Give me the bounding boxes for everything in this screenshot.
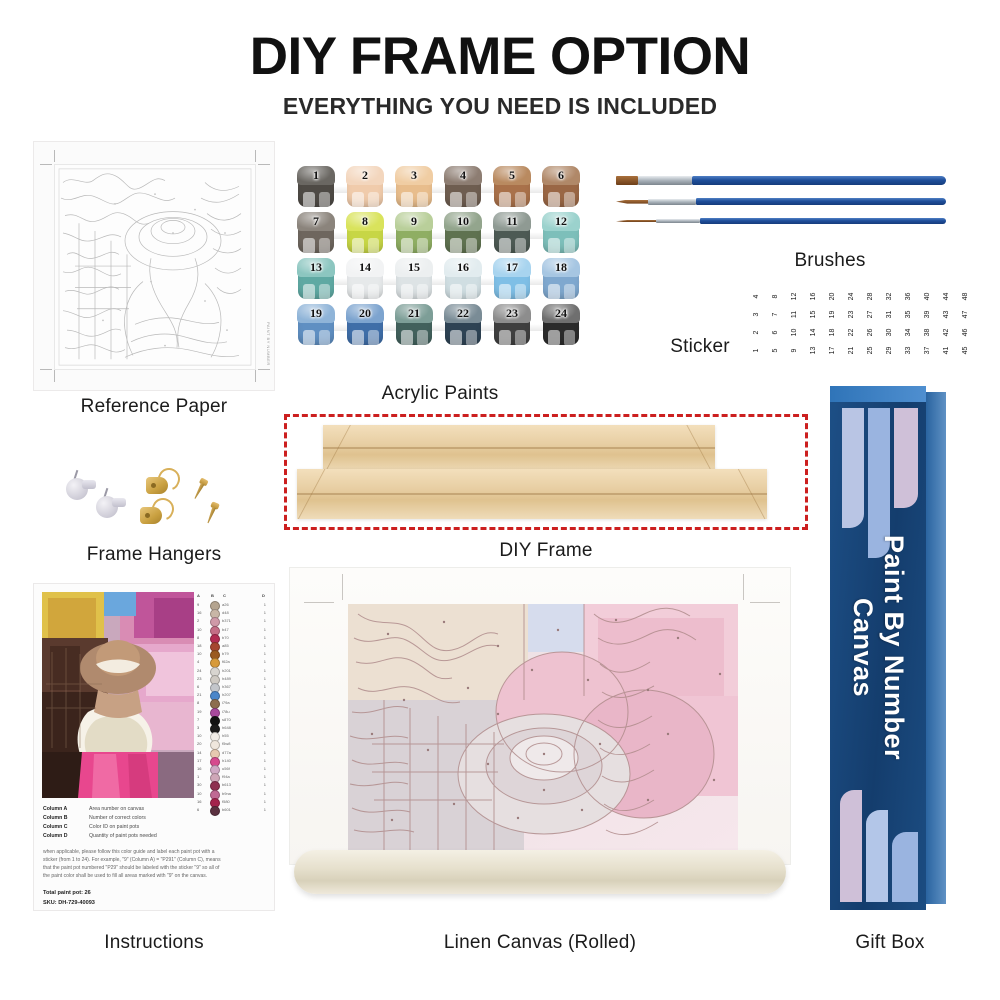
paint-pot-number: 7	[296, 214, 336, 229]
plug-stem	[112, 498, 126, 507]
paint-pot-highlight	[466, 284, 477, 299]
caption-frame-hangers: Frame Hangers	[34, 544, 274, 566]
sticker-number: 42	[938, 324, 955, 341]
legend-color-code: b613	[222, 782, 231, 787]
legend-row: 16d481	[196, 609, 268, 617]
legend-row: 19i78u1	[196, 708, 268, 716]
brush-ferrule	[648, 199, 696, 205]
paint-pot-highlight	[417, 238, 428, 253]
paint-pot-21: 21	[394, 304, 434, 346]
paint-pot-20: 20	[345, 304, 385, 346]
paint-pot-highlight	[515, 330, 526, 345]
paint-pot-highlight	[401, 192, 413, 207]
screw	[204, 501, 220, 524]
wood-stretcher-bar	[297, 469, 767, 519]
legend-quantity: 1	[264, 635, 266, 640]
paint-pot-number: 18	[541, 260, 581, 275]
sticker-number: 12	[786, 288, 803, 305]
paint-pot-1: 1	[296, 166, 336, 208]
d-ring-hole	[145, 513, 150, 518]
legend-quantity: 1	[264, 709, 266, 714]
legend-color-code: b47	[222, 627, 229, 632]
paint-pot-10: 10	[443, 212, 483, 254]
legend-area-number: 7	[197, 717, 199, 722]
paint-pot-number: 19	[296, 306, 336, 321]
legend-color-code: b601	[222, 807, 231, 812]
sticker-number: 45	[957, 342, 974, 359]
sticker-number: 11	[786, 306, 803, 323]
paint-pot-row: 789101112	[296, 212, 588, 254]
canvas-lineart	[348, 604, 738, 852]
sticker-number: 41	[938, 342, 955, 359]
painting-preview-svg	[42, 592, 194, 798]
gift-box-side	[926, 392, 946, 904]
legend-area-number: 14	[197, 750, 201, 755]
paint-pot-highlight	[450, 330, 462, 345]
paint-pot-highlight	[515, 238, 526, 253]
instructions-column-label: Column C	[43, 824, 68, 830]
instructions-column-desc: Area number on canvas	[89, 806, 144, 812]
paint-pot-17: 17	[492, 258, 532, 300]
crop-mark	[255, 370, 256, 382]
instructions-column-desc: Color ID on paint pots	[89, 824, 139, 830]
paint-pot-highlight	[450, 238, 462, 253]
brushes-group	[616, 172, 946, 250]
paint-pot-2: 2	[345, 166, 385, 208]
legend-color-code: a85	[222, 643, 229, 648]
paint-pot-highlight	[499, 238, 511, 253]
round-brush	[616, 198, 946, 205]
paint-pot-number: 20	[345, 306, 385, 321]
sticker-number: 23	[843, 306, 860, 323]
paint-pot-6: 6	[541, 166, 581, 208]
page-title: DIY FRAME OPTION	[0, 26, 1000, 87]
legend-row: 24h2011	[196, 667, 268, 675]
paint-pot-highlight	[548, 284, 560, 299]
instructions-column-desc: Number of correct colors	[89, 815, 146, 821]
caption-reference-paper: Reference Paper	[34, 396, 274, 418]
wall-plug	[66, 474, 96, 502]
legend-area-number: 6	[197, 684, 199, 689]
legend-quantity: 1	[264, 733, 266, 738]
sticker-number: 34	[900, 324, 917, 341]
canvas-crop-mark	[342, 574, 343, 600]
wood-groove	[297, 493, 767, 495]
sticker-number: 8	[767, 288, 784, 305]
paint-pot-highlight	[515, 192, 526, 207]
reference-paper-lineart	[54, 164, 256, 370]
canvas-crop-mark	[743, 574, 744, 600]
legend-row: 21h2071	[196, 691, 268, 699]
paint-pot-highlight	[303, 192, 315, 207]
paint-pot-number: 1	[296, 168, 336, 183]
acrylic-paints-group: 123456789101112131415161718192021222324	[296, 166, 588, 352]
legend-quantity: 1	[264, 627, 266, 632]
legend-quantity: 1	[264, 610, 266, 615]
brush-handle	[700, 218, 946, 224]
brush-tip	[616, 200, 648, 204]
wood-groove	[323, 447, 715, 449]
sticker-number: 20	[824, 288, 841, 305]
legend-quantity: 1	[264, 791, 266, 796]
legend-quantity: 1	[264, 651, 266, 656]
legend-color-code: h140	[222, 758, 231, 763]
d-ring-hole	[151, 483, 156, 488]
paint-pot-highlight	[368, 192, 379, 207]
paint-pot-highlight	[417, 284, 428, 299]
legend-row: 16f5801	[196, 798, 268, 806]
legend-color-code: h489	[222, 676, 231, 681]
paint-pot-number: 16	[443, 260, 483, 275]
paint-pot-24: 24	[541, 304, 581, 346]
canvas-sheet	[290, 568, 790, 864]
paint-pot-highlight	[303, 238, 315, 253]
legend-area-number: 17	[197, 758, 201, 763]
legend-quantity: 1	[264, 807, 266, 812]
legend-quantity: 1	[264, 643, 266, 648]
canvas-crop-mark	[304, 602, 334, 603]
screw-shaft	[193, 483, 205, 500]
paint-pot-highlight	[368, 330, 379, 345]
legend-quantity: 1	[264, 725, 266, 730]
legend-color-code: h367	[222, 684, 231, 689]
crop-mark	[54, 370, 55, 382]
legend-quantity: 1	[264, 684, 266, 689]
legend-color-code: b79	[222, 651, 229, 656]
legend-row: 7s8701	[196, 716, 268, 724]
instructions-painting-preview	[42, 592, 194, 798]
canvas-crop-mark	[750, 602, 780, 603]
sticker-number: 38	[919, 324, 936, 341]
wood-miter-left	[297, 469, 327, 519]
legend-row: 10b9na1	[196, 790, 268, 798]
instructions-column-desc: Quantity of paint pots needed	[89, 833, 157, 839]
brush-tip	[616, 220, 656, 222]
instructions-column-row: Column CColor ID on paint pots	[43, 824, 219, 833]
legend-row: 14d77a1	[196, 749, 268, 757]
legend-header-b: B	[211, 593, 214, 598]
instructions-column-row: Column BNumber of correct colors	[43, 815, 219, 824]
crop-mark	[255, 150, 256, 162]
paint-pot-highlight	[352, 330, 364, 345]
paint-pot-number: 6	[541, 168, 581, 183]
paint-pot-highlight	[548, 238, 560, 253]
paint-pot-number: 3	[394, 168, 434, 183]
sticker-number: 22	[843, 324, 860, 341]
legend-row: 10b791	[196, 650, 268, 658]
legend-quantity: 1	[264, 676, 266, 681]
legend-color-code: h55	[222, 733, 229, 738]
legend-color-code: h648	[222, 725, 231, 730]
paint-pot-row: 131415161718	[296, 258, 588, 300]
paint-pot-23: 23	[492, 304, 532, 346]
paint-pot-highlight	[368, 238, 379, 253]
legend-row: 8b701	[196, 634, 268, 642]
legend-row: 20f5w81	[196, 740, 268, 748]
sticker-number: 32	[881, 288, 898, 305]
legend-quantity: 1	[264, 774, 266, 779]
paint-pot-18: 18	[541, 258, 581, 300]
sticker-number: 19	[824, 306, 841, 323]
sticker-column: 9101112	[786, 288, 803, 362]
gift-box-label: Canvas Paint By Number	[830, 386, 926, 910]
wall-plug	[96, 492, 126, 520]
sticker-column: 21222324	[843, 288, 860, 362]
paint-pot-highlight	[401, 284, 413, 299]
sticker-number: 48	[957, 288, 974, 305]
legend-area-number: 16	[197, 610, 201, 615]
legend-color-code: d77a	[222, 750, 231, 755]
legend-header-a: A	[197, 593, 200, 598]
instructions-total-paint-pot: Total paint pot: 26	[43, 890, 91, 896]
paint-pot-number: 11	[492, 214, 532, 229]
paint-pot-5: 5	[492, 166, 532, 208]
paint-pot-7: 7	[296, 212, 336, 254]
brush-tip	[616, 176, 638, 185]
sticker-number: 17	[824, 342, 841, 359]
paint-pot-number: 17	[492, 260, 532, 275]
paint-pot-row: 123456	[296, 166, 588, 208]
legend-row: 8i79a1	[196, 699, 268, 707]
crop-mark	[54, 150, 55, 162]
paint-pot-number: 22	[443, 306, 483, 321]
paint-pot-number: 8	[345, 214, 385, 229]
plug-stem	[82, 480, 96, 489]
caption-acrylic-paints: Acrylic Paints	[290, 383, 590, 405]
paint-pot-highlight	[303, 284, 315, 299]
sticker-column: 13141516	[805, 288, 822, 362]
paint-pot-highlight	[548, 192, 560, 207]
instructions-paragraph: when applicable, please follow this colo…	[43, 848, 221, 880]
paint-pot-9: 9	[394, 212, 434, 254]
brush-handle	[692, 176, 946, 185]
legend-color-code: i78u	[222, 709, 230, 714]
legend-row: 1f94a1	[196, 773, 268, 781]
sticker-number: 28	[862, 288, 879, 305]
paint-pot-number: 2	[345, 168, 385, 183]
paint-pot-highlight	[499, 284, 511, 299]
sticker-number: 30	[881, 324, 898, 341]
canvas-roll	[294, 850, 786, 894]
sticker-column: 37383940	[919, 288, 936, 362]
paint-pot-highlight	[417, 192, 428, 207]
sticker-number: 46	[957, 324, 974, 341]
sticker-number: 14	[805, 324, 822, 341]
legend-row: 2b3711	[196, 617, 268, 625]
sticker-column: 45464748	[957, 288, 974, 362]
reference-paper-item: PAINT BY NUMBER	[34, 142, 274, 390]
wood-face	[323, 425, 715, 473]
legend-quantity: 1	[264, 700, 266, 705]
legend-area-number: 23	[197, 676, 201, 681]
paint-pot-highlight	[466, 330, 477, 345]
paint-pot-number: 13	[296, 260, 336, 275]
d-ring-hanger	[140, 498, 170, 528]
brush-ferrule	[656, 219, 700, 224]
legend-area-number: 19	[197, 709, 201, 714]
legend-color-code: a26	[222, 602, 229, 607]
sticker-number: 36	[900, 288, 917, 305]
reference-paper-watermark: PAINT BY NUMBER	[266, 322, 271, 366]
caption-gift-box: Gift Box	[800, 932, 980, 954]
paint-pot-highlight	[450, 192, 462, 207]
sticker-number: 24	[843, 288, 860, 305]
legend-color-code: f94a	[222, 774, 230, 779]
paint-pot-highlight	[564, 284, 575, 299]
legend-row: 17h1401	[196, 757, 268, 765]
wood-miter-left	[323, 425, 353, 473]
legend-quantity: 1	[264, 602, 266, 607]
sticker-number: 18	[824, 324, 841, 341]
sticker-number: 27	[862, 306, 879, 323]
instructions-sheet: ABCD9a26116d4812b371110b4718b70118a85110…	[34, 584, 274, 910]
legend-area-number: 16	[197, 799, 201, 804]
page-subtitle: EVERYTHING YOU NEED IS INCLUDED	[0, 93, 1000, 120]
legend-header-row: ABCD	[196, 592, 268, 600]
paint-pot-number: 15	[394, 260, 434, 275]
crop-mark	[40, 369, 52, 370]
diy-frame-option-infographic: DIY FRAME OPTION EVERYTHING YOU NEED IS …	[0, 0, 1000, 1000]
legend-area-number: 4	[197, 659, 199, 664]
paint-pot-highlight	[319, 192, 330, 207]
paint-pot-13: 13	[296, 258, 336, 300]
sticker-number: 26	[862, 324, 879, 341]
sticker-number: 25	[862, 342, 879, 359]
flat-brush	[616, 176, 946, 185]
sticker-column: 33343536	[900, 288, 917, 362]
legend-color-code: b9na	[222, 791, 231, 796]
legend-area-number: 24	[197, 668, 201, 673]
caption-instructions: Instructions	[34, 932, 274, 954]
sticker-number: 39	[919, 306, 936, 323]
sticker-number: 9	[786, 342, 803, 359]
paint-pot-highlight	[564, 330, 575, 345]
crop-mark	[258, 369, 270, 370]
legend-color-code: h201	[222, 668, 231, 673]
sticker-number: 10	[786, 324, 803, 341]
sticker-number: 29	[881, 342, 898, 359]
legend-color-code: f580	[222, 799, 230, 804]
paint-pot-3: 3	[394, 166, 434, 208]
legend-area-number: 10	[197, 627, 201, 632]
legend-quantity: 1	[264, 618, 266, 623]
sticker-number: 31	[881, 306, 898, 323]
legend-quantity: 1	[264, 659, 266, 664]
paint-pot-highlight	[319, 284, 330, 299]
paint-pot-11: 11	[492, 212, 532, 254]
linen-canvas-item	[290, 568, 790, 908]
sticker-column: 17181920	[824, 288, 841, 362]
d-ring-hanger	[146, 468, 176, 498]
sticker-number: 13	[805, 342, 822, 359]
legend-area-number: 30	[197, 782, 201, 787]
d-ring-plate	[140, 507, 162, 524]
paint-pot-number: 10	[443, 214, 483, 229]
sticker-number: 15	[805, 306, 822, 323]
legend-area-number: 10	[197, 791, 201, 796]
sticker-column: 25262728	[862, 288, 879, 362]
legend-area-number: 8	[197, 635, 199, 640]
legend-quantity: 1	[264, 782, 266, 787]
paint-pot-highlight	[401, 330, 413, 345]
legend-area-number: 3	[197, 725, 199, 730]
instructions-sku: SKU: DH-729-40093	[43, 900, 95, 906]
legend-row: 30b6131	[196, 781, 268, 789]
legend-row: 3h6481	[196, 724, 268, 732]
paint-pot-number: 24	[541, 306, 581, 321]
instructions-column-label: Column A	[43, 806, 67, 812]
legend-area-number: 18	[197, 643, 201, 648]
caption-linen-canvas: Linen Canvas (Rolled)	[290, 932, 790, 954]
legend-color-code: f62a	[222, 659, 230, 664]
paint-pot-highlight	[417, 330, 428, 345]
gift-box-item: Canvas Paint By Number	[830, 386, 946, 910]
paint-pot-highlight	[466, 192, 477, 207]
liner-brush	[616, 218, 946, 224]
screw-shaft	[206, 507, 216, 524]
sticker-number: 7	[767, 306, 784, 323]
paint-pot-highlight	[319, 238, 330, 253]
legend-color-code: s870	[222, 717, 231, 722]
paint-pot-number: 5	[492, 168, 532, 183]
sticker-number: 44	[938, 288, 955, 305]
paint-pot-highlight	[499, 330, 511, 345]
instructions-column-label: Column B	[43, 815, 68, 821]
legend-quantity: 1	[264, 717, 266, 722]
legend-color-code: b70	[222, 635, 229, 640]
paint-pot-row: 192021222324	[296, 304, 588, 346]
legend-header-d: D	[262, 593, 265, 598]
legend-color-code: i79a	[222, 700, 230, 705]
wood-stretcher-bar	[323, 425, 715, 473]
legend-quantity: 1	[264, 799, 266, 804]
instructions-column-key: Column AArea number on canvasColumn BNum…	[43, 806, 219, 842]
instructions-column-label: Column D	[43, 833, 68, 839]
paint-pot-highlight	[319, 330, 330, 345]
paint-pot-15: 15	[394, 258, 434, 300]
paint-pot-number: 23	[492, 306, 532, 321]
paint-pot-22: 22	[443, 304, 483, 346]
paint-pot-highlight	[352, 284, 364, 299]
sticker-number: 3	[748, 306, 765, 323]
paint-pot-highlight	[515, 284, 526, 299]
caption-diy-frame: DIY Frame	[284, 540, 808, 562]
sticker-number: 21	[843, 342, 860, 359]
paint-pot-8: 8	[345, 212, 385, 254]
sticker-number: 47	[957, 306, 974, 323]
wood-miter-right	[685, 425, 715, 473]
paint-pot-number: 12	[541, 214, 581, 229]
caption-brushes: Brushes	[700, 250, 960, 272]
sticker-number: 35	[900, 306, 917, 323]
brush-ferrule	[638, 176, 692, 185]
reference-lineart-svg	[55, 165, 255, 369]
sticker-number: 43	[938, 306, 955, 323]
crop-mark	[258, 164, 270, 165]
legend-row: 10h551	[196, 732, 268, 740]
paint-pot-highlight	[466, 238, 477, 253]
legend-color-code: b371	[222, 618, 231, 623]
paint-pot-14: 14	[345, 258, 385, 300]
paint-pot-number: 4	[443, 168, 483, 183]
legend-row: 6h3671	[196, 683, 268, 691]
legend-color-code: d48	[222, 610, 229, 615]
legend-header-c: C	[223, 593, 226, 598]
instructions-column-row: Column AArea number on canvas	[43, 806, 219, 815]
legend-area-number: 21	[197, 692, 201, 697]
legend-quantity: 1	[264, 692, 266, 697]
paint-pot-highlight	[564, 238, 575, 253]
